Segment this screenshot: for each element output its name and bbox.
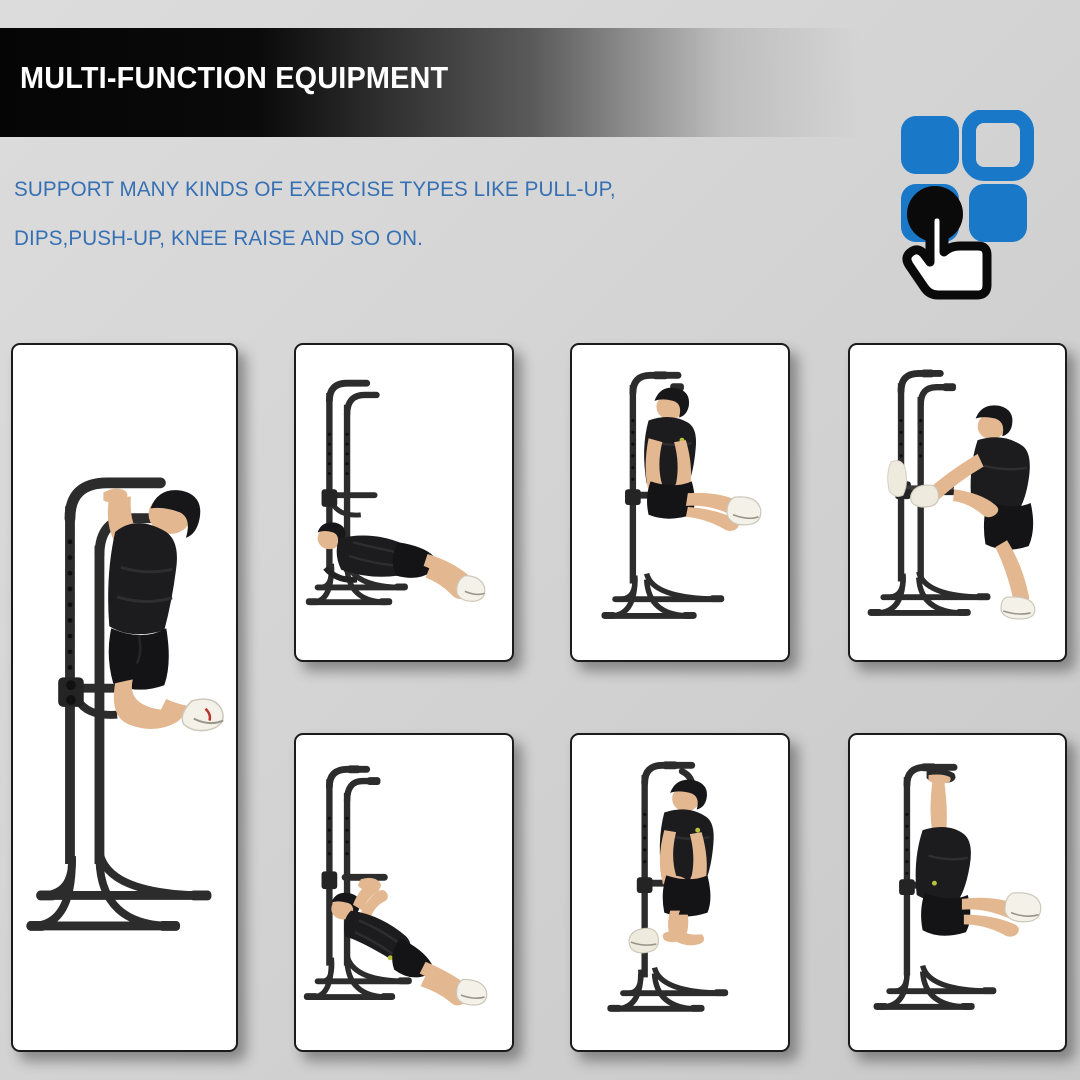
shoe [629,928,659,953]
tile-top-left [901,116,959,174]
shoe-standing [1001,597,1035,619]
shoe [457,979,487,1005]
panel-hanging-leg-raise[interactable] [848,733,1067,1052]
shoe [182,699,223,730]
shoe-raised [911,485,939,507]
shoe [457,576,485,602]
exercise-photo-pull-up [13,345,236,1050]
exercise-photo-dips [572,345,788,660]
panel-dip-l-sit[interactable] [570,343,790,662]
panel-leg-stretch[interactable] [848,343,1067,662]
exercise-photo-inverted-row [296,735,512,1050]
panel-push-up[interactable] [294,343,514,662]
towel [888,461,907,497]
shoe [727,497,761,525]
panel-inverted-row[interactable] [294,733,514,1052]
subtitle-line-1: SUPPORT MANY KINDS OF EXERCISE TYPES LIK… [14,165,782,214]
exercise-photo-knee-raise [572,735,788,1050]
panel-pull-up[interactable] [11,343,238,1052]
page-subtitle: SUPPORT MANY KINDS OF EXERCISE TYPES LIK… [14,165,782,263]
tile-bottom-right [969,184,1027,242]
multi-function-grid-hand-icon [893,110,1038,310]
exercise-photo-hanging-leg-raise [850,735,1065,1050]
tile-top-right [969,116,1027,174]
subtitle-line-2: DIPS,PUSH-UP, KNEE RAISE AND SO ON. [14,214,782,263]
athlete-hanging-leg-raise [916,770,1041,937]
panel-knee-raise[interactable] [570,733,790,1052]
athlete-pull-up [103,489,223,731]
athlete-dips [644,388,761,531]
exercise-photo-push-up [296,345,512,660]
exercise-photo-leg-stretch [850,345,1065,660]
shoe [1005,893,1041,922]
page-title: MULTI-FUNCTION EQUIPMENT [20,60,448,96]
height-adjustment-holes [68,539,73,669]
